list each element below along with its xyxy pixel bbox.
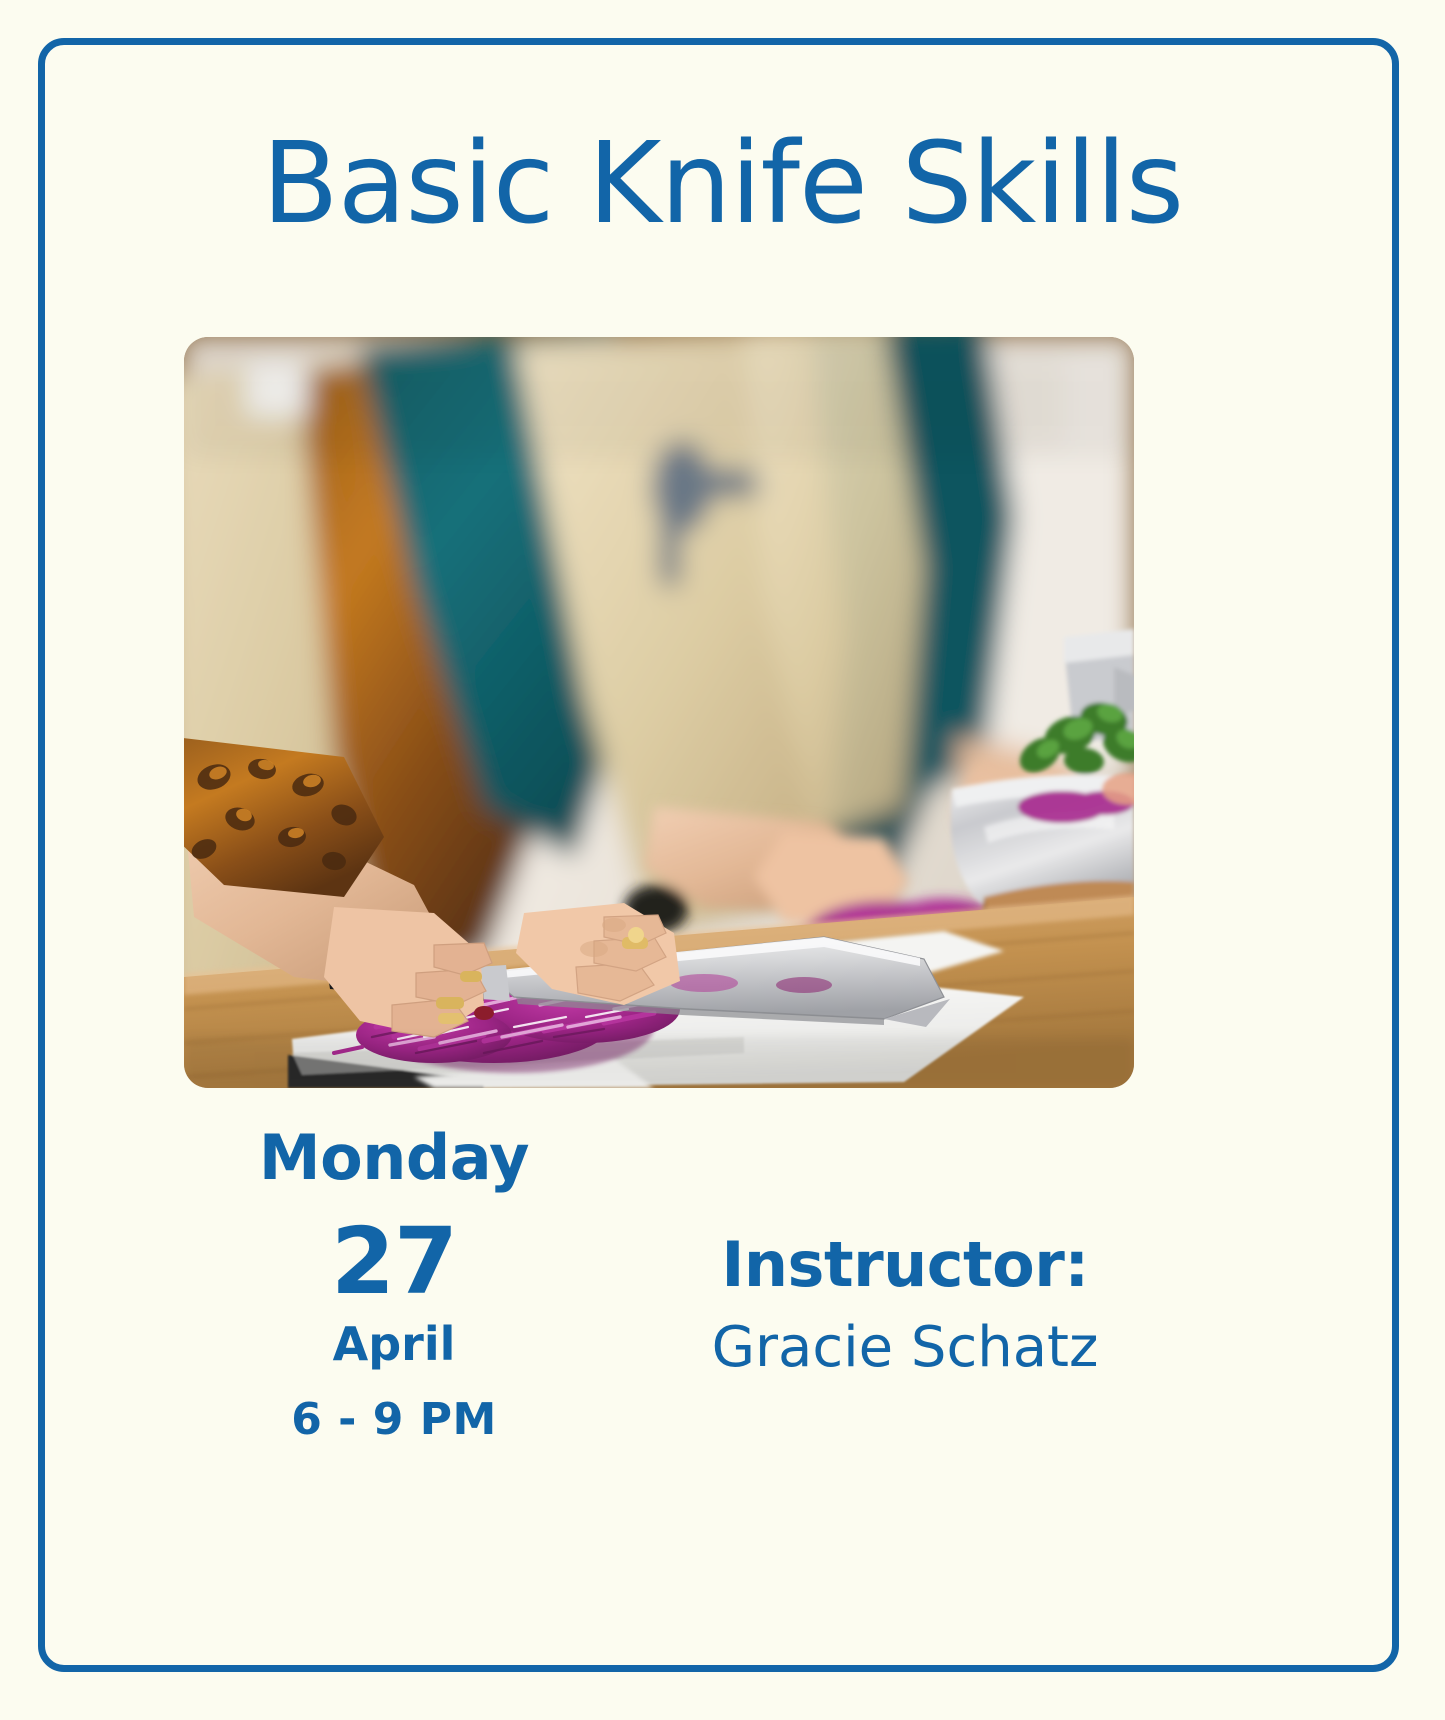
instructor-block: Instructor: Gracie Schatz bbox=[620, 1232, 1190, 1379]
instructor-label: Instructor: bbox=[620, 1232, 1190, 1299]
date-weekday: Monday bbox=[184, 1125, 604, 1192]
event-date-block: Monday 27 April 6 - 9 PM bbox=[184, 1125, 604, 1444]
date-day-number: 27 bbox=[184, 1210, 604, 1313]
class-photo bbox=[184, 337, 1134, 1088]
page-title: Basic Knife Skills bbox=[0, 128, 1445, 240]
event-time: 6 - 9 PM bbox=[184, 1396, 604, 1444]
instructor-name: Gracie Schatz bbox=[620, 1317, 1190, 1379]
event-poster: Basic Knife Skills bbox=[0, 0, 1445, 1720]
date-month: April bbox=[184, 1319, 604, 1370]
